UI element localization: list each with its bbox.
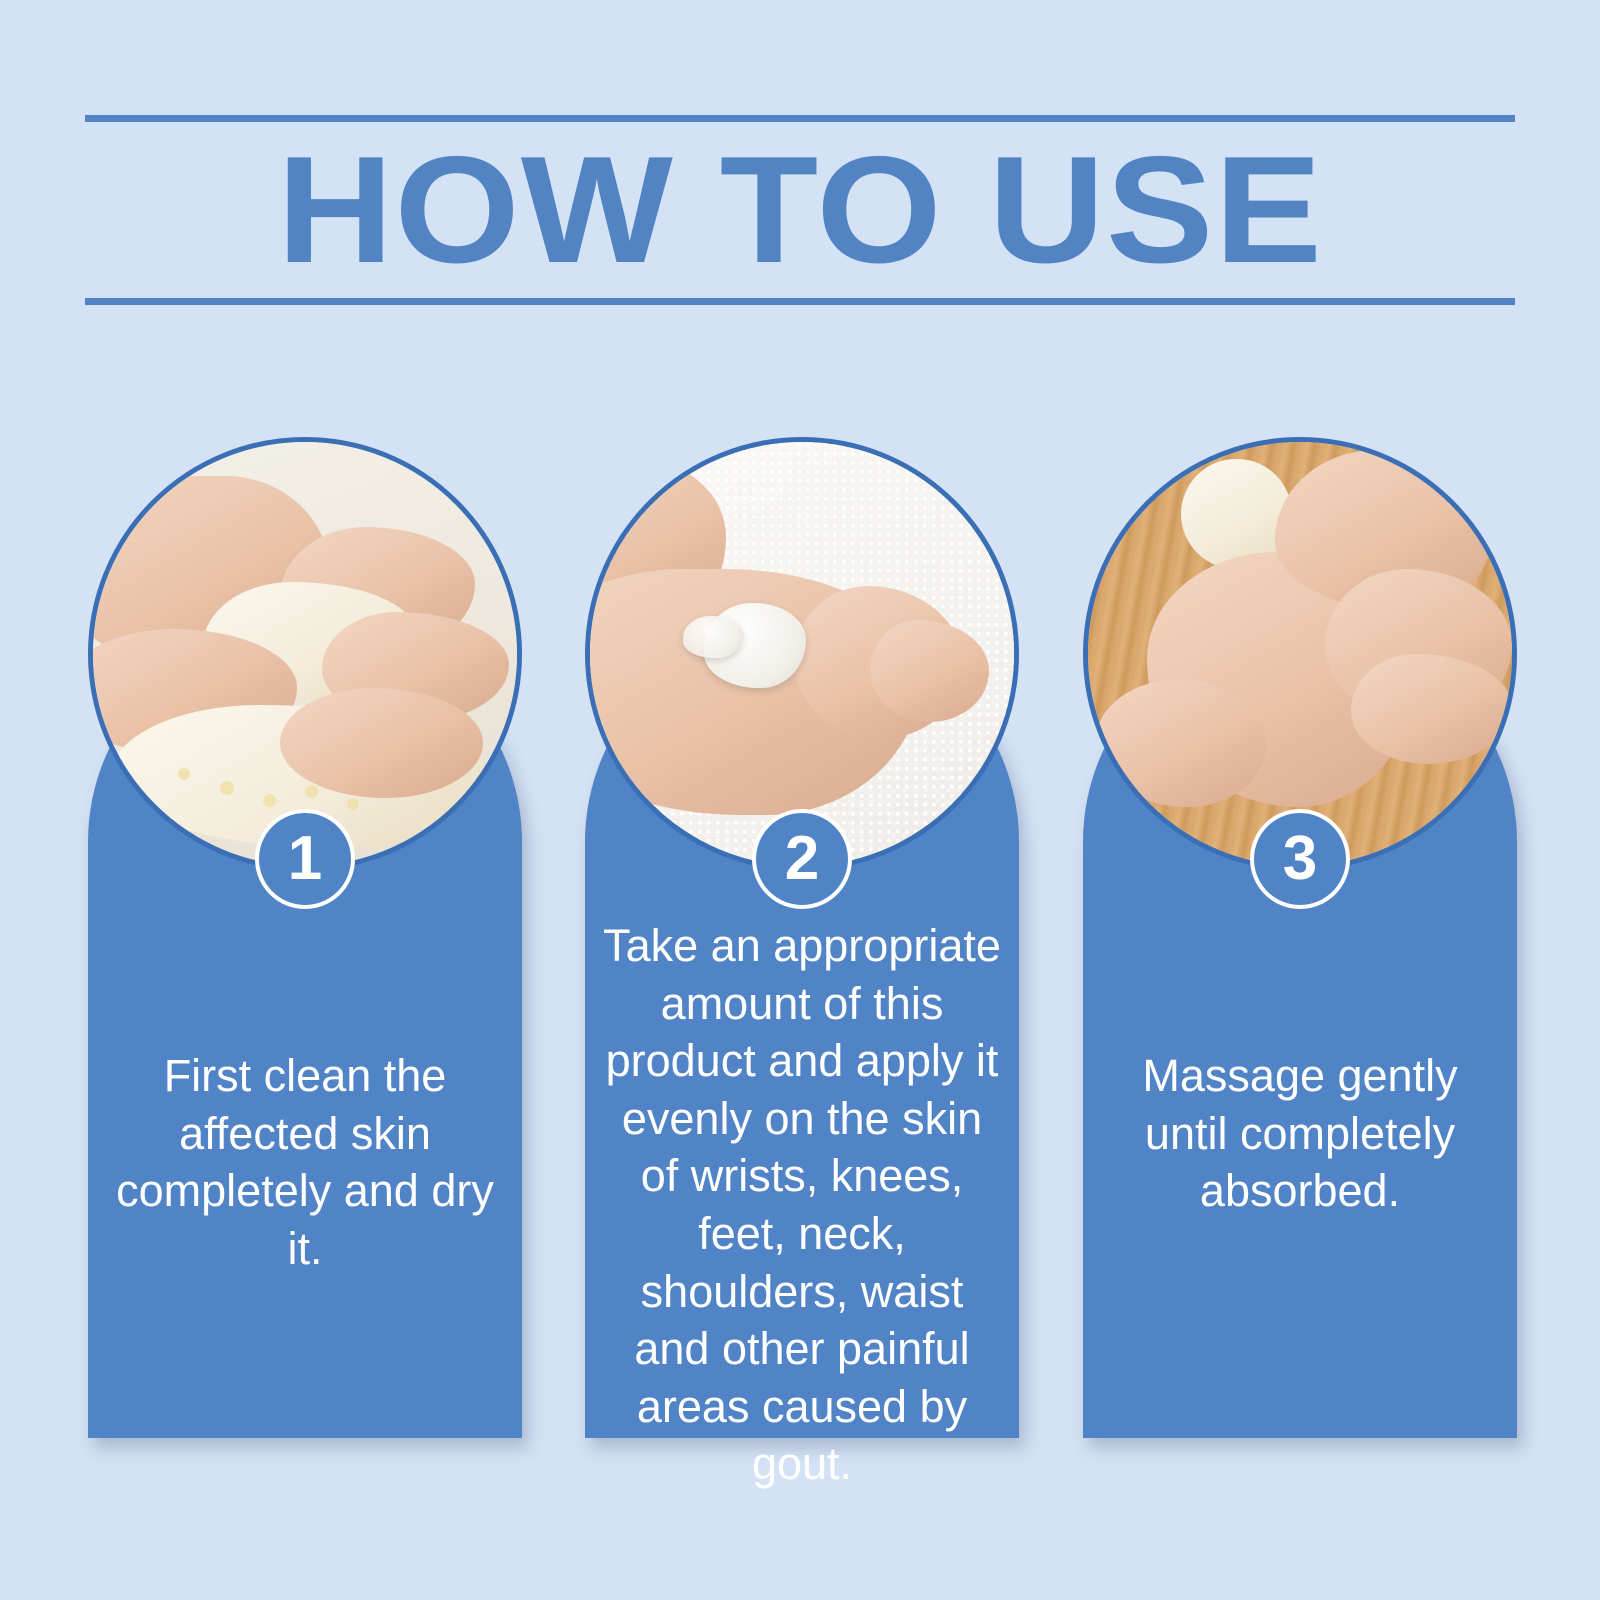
steps-row: 1 First clean the affected skin complete… [88,437,1515,1438]
page-title: HOW TO USE [42,115,1558,305]
step-photo-2 [585,437,1019,871]
step-photo-1 [88,437,522,871]
step-caption-3: Massage gently until completely absorbed… [1095,1047,1505,1220]
step-number-badge-1: 1 [255,809,355,909]
photo-artwork-apply-cream [590,442,1014,866]
step-card-2: 2 Take an appropriate amount of this pro… [585,437,1019,1438]
photo-artwork-foot-massage [1088,442,1512,866]
step-caption-1: First clean the affected skin completely… [100,1047,510,1277]
step-number-badge-3: 3 [1250,809,1350,909]
header-bottom-rule [85,298,1515,305]
photo-artwork-towel-dry [93,442,517,866]
header: HOW TO USE [85,115,1515,305]
step-card-3: 3 Massage gently until completely absorb… [1083,437,1517,1438]
step-caption-2: Take an appropriate amount of this produ… [597,917,1007,1493]
step-card-1: 1 First clean the affected skin complete… [88,437,522,1438]
step-photo-3 [1083,437,1517,871]
step-number-badge-2: 2 [752,809,852,909]
